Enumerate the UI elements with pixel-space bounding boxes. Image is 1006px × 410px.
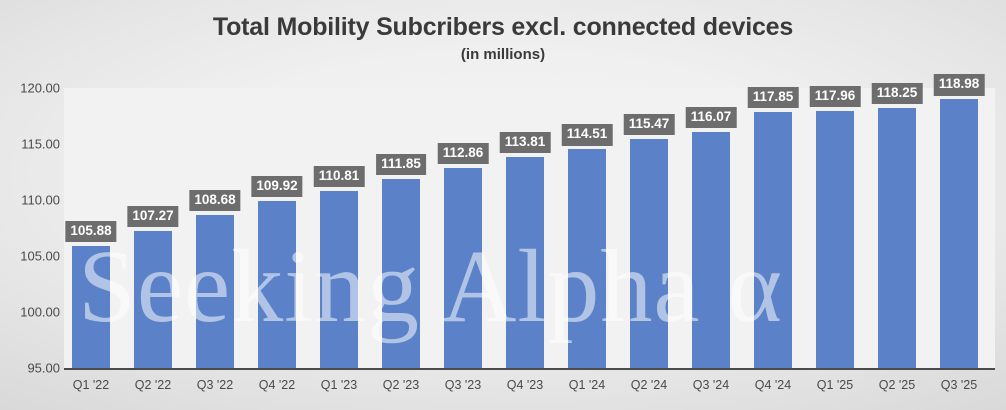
bar-value-label: 113.81 <box>500 132 551 153</box>
x-axis-tick-label: Q2 '23 <box>383 378 419 392</box>
bar[interactable] <box>320 191 358 368</box>
bar[interactable] <box>754 112 792 368</box>
bar-value-label: 117.96 <box>810 86 861 107</box>
x-axis-tick-label: Q4 '23 <box>507 378 543 392</box>
bar-value-label: 115.47 <box>624 114 675 135</box>
bar-value-label: 112.86 <box>438 143 489 164</box>
bars-layer: 105.88Q1 '22107.27Q2 '22108.68Q3 '22109.… <box>0 0 1006 410</box>
bar[interactable] <box>940 99 978 368</box>
bar-value-label: 105.88 <box>65 221 116 242</box>
bar[interactable] <box>692 132 730 368</box>
bar-value-label: 110.81 <box>314 166 365 187</box>
x-axis-tick-label: Q3 '25 <box>941 378 977 392</box>
bar[interactable] <box>568 149 606 368</box>
bar-value-label: 118.25 <box>872 83 923 104</box>
bar[interactable] <box>444 168 482 368</box>
x-axis-tick-label: Q4 '22 <box>259 378 295 392</box>
axis-baseline <box>64 368 995 370</box>
bar-value-label: 108.68 <box>189 190 240 211</box>
bar[interactable] <box>382 179 420 368</box>
x-axis-tick-label: Q2 '25 <box>879 378 915 392</box>
x-axis-tick-label: Q1 '24 <box>569 378 605 392</box>
bar-value-label: 117.85 <box>748 87 799 108</box>
bar[interactable] <box>72 246 110 368</box>
x-axis-tick-label: Q3 '23 <box>445 378 481 392</box>
bar[interactable] <box>196 215 234 368</box>
bar-value-label: 116.07 <box>686 107 737 128</box>
x-axis-tick-label: Q2 '22 <box>135 378 171 392</box>
bar[interactable] <box>878 108 916 368</box>
x-axis-tick-label: Q2 '24 <box>631 378 667 392</box>
chart-canvas: Seeking Alpha α Total Mobility Subcriber… <box>0 0 1006 410</box>
x-axis-tick-label: Q1 '23 <box>321 378 357 392</box>
bar[interactable] <box>134 231 172 368</box>
bar-value-label: 107.27 <box>127 206 178 227</box>
bar-value-label: 111.85 <box>376 154 426 175</box>
bar[interactable] <box>630 139 668 368</box>
x-axis-tick-label: Q3 '22 <box>197 378 233 392</box>
bar-value-label: 109.92 <box>251 176 302 197</box>
bar[interactable] <box>258 201 296 368</box>
bar[interactable] <box>816 111 854 368</box>
x-axis-tick-label: Q4 '24 <box>755 378 791 392</box>
x-axis-tick-label: Q1 '25 <box>817 378 853 392</box>
x-axis-tick-label: Q1 '22 <box>73 378 109 392</box>
x-axis-tick-label: Q3 '24 <box>693 378 729 392</box>
bar-value-label: 118.98 <box>934 74 985 95</box>
bar-value-label: 114.51 <box>562 124 613 145</box>
bar[interactable] <box>506 157 544 368</box>
